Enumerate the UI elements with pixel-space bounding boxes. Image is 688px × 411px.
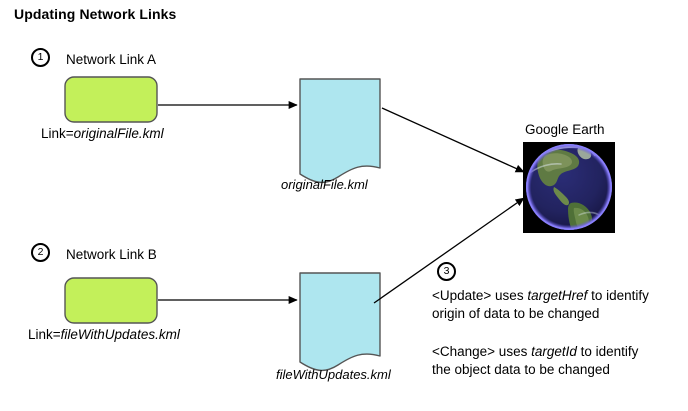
document-label-file-with-updates: fileWithUpdates.kml [276,367,391,383]
page-title: Updating Network Links [14,6,176,24]
step-badge-3: 3 [437,262,456,281]
diagram-canvas: Updating Network Links 1 2 3 Network Lin… [0,0,688,411]
note-change-line-1: <Change> uses targetId to identify [432,344,638,361]
link-prefix-a: Link= [41,126,74,141]
note-update-emphasis: targetHref [527,288,587,303]
network-link-b-node[interactable] [65,278,157,323]
link-target-b: fileWithUpdates.kml [61,327,180,342]
note-update-lead: <Update> uses [432,288,527,303]
link-target-a: originalFile.kml [74,126,164,141]
note-update-line-2: origin of data to be changed [432,306,599,323]
note-change-emphasis: targetId [531,344,577,359]
network-link-b-link-label: Link=fileWithUpdates.kml [28,327,180,344]
google-earth-globe-icon [523,142,615,236]
note-update-line-1: <Update> uses targetHref to identify [432,288,649,305]
network-link-a-node[interactable] [65,77,157,122]
note-change-line-2: the object data to be changed [432,362,610,379]
arrow-document-original-to-google-earth [382,108,524,172]
network-link-a-title: Network Link A [66,52,156,69]
note-change-lead: <Change> uses [432,344,531,359]
document-label-original-file: originalFile.kml [281,177,368,193]
document-shape-file-with-updates[interactable] [300,273,380,370]
network-link-a-link-label: Link=originalFile.kml [41,126,164,143]
document-shape-original-file[interactable] [300,79,380,182]
network-link-b-title: Network Link B [66,247,157,264]
step-badge-2: 2 [31,243,50,262]
link-prefix-b: Link= [28,327,61,342]
note-update-tail: to identify [587,288,649,303]
note-change-tail: to identify [577,344,639,359]
google-earth-label: Google Earth [525,122,605,139]
step-badge-1: 1 [31,48,50,67]
